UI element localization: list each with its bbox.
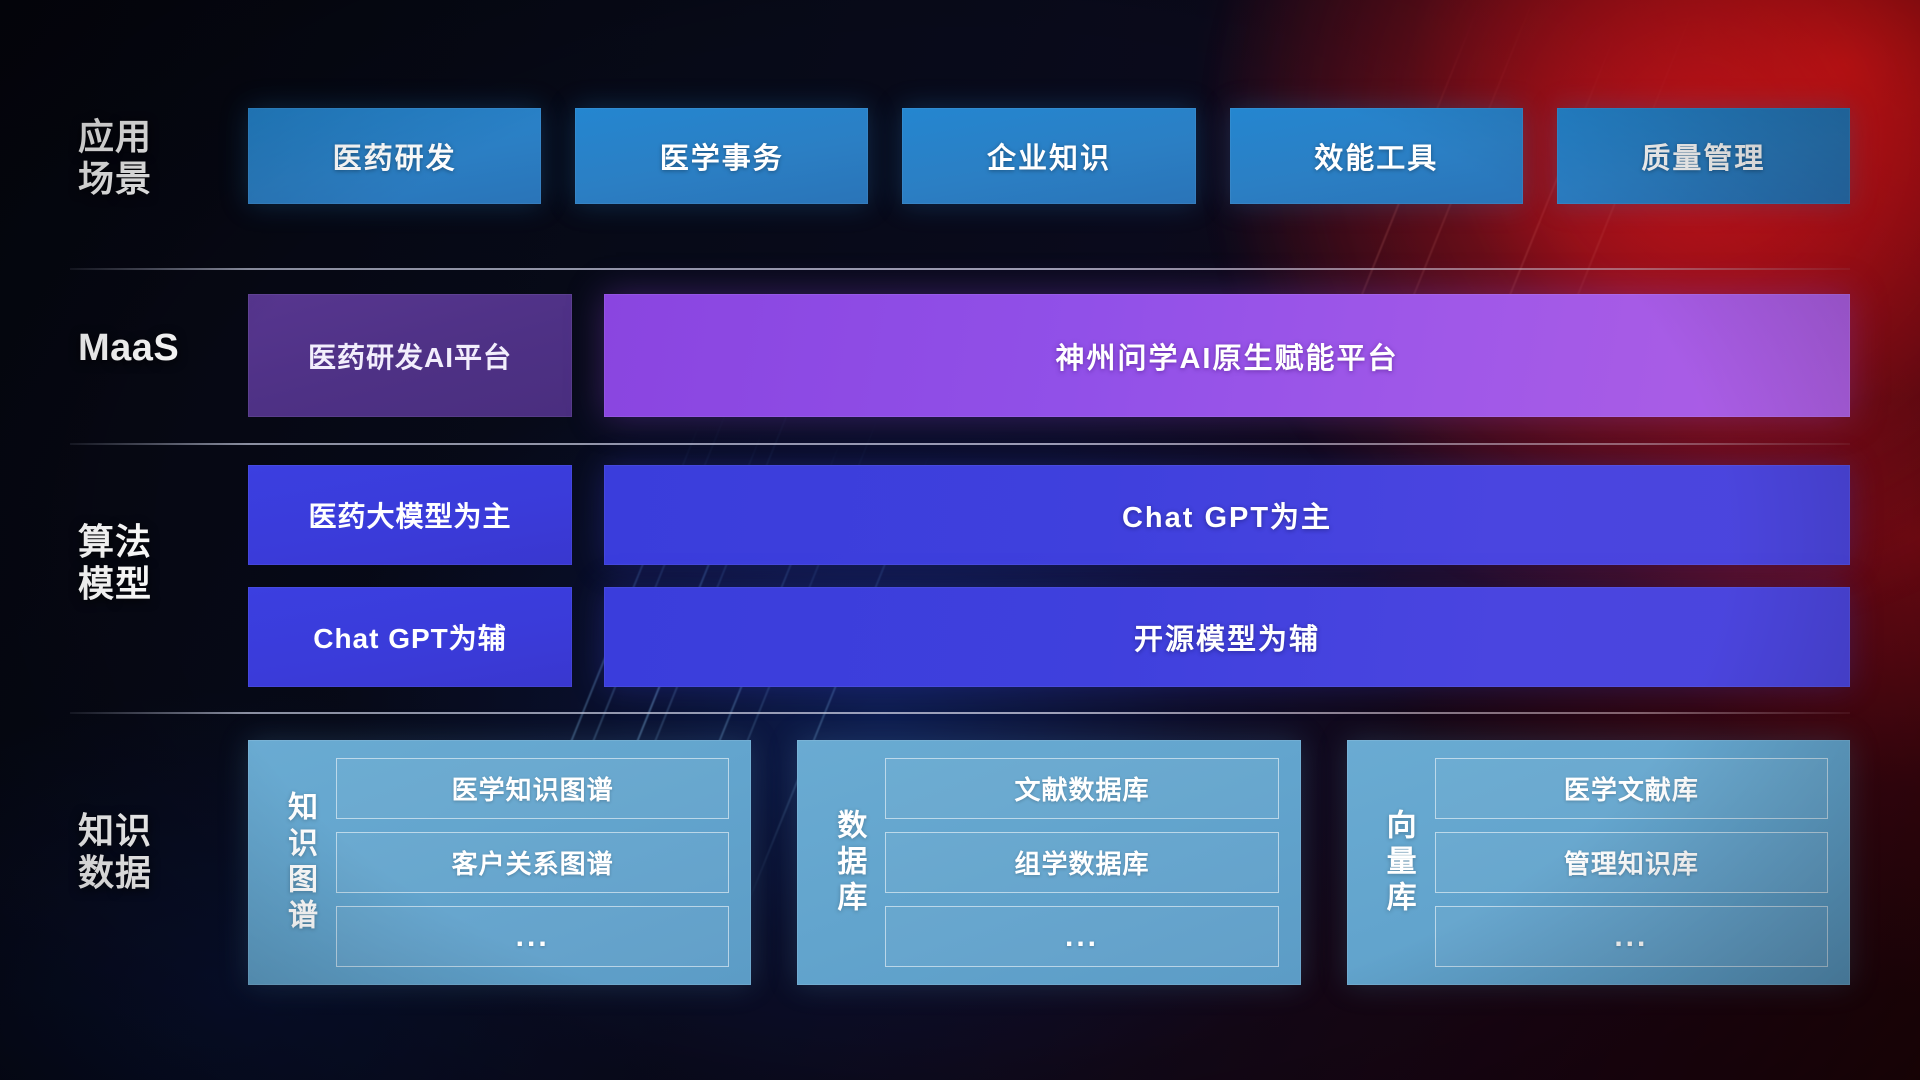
algorithm-line-primary: 医药大模型为主 Chat GPT为主 xyxy=(248,465,1850,565)
row-label-application-scenarios: 应用 场景 xyxy=(78,116,218,201)
knowledge-groups-track: 知识图谱 医学知识图谱 客户关系图谱 ... 数据库 文献数据库 组学数据库 .… xyxy=(248,740,1850,985)
row-label-line-1: 知识 xyxy=(78,810,218,852)
knowledge-item-customer-kg[interactable]: 客户关系图谱 xyxy=(336,832,729,893)
app-card-quality-management[interactable]: 质量管理 xyxy=(1557,108,1850,204)
knowledge-items-list: 医学文献库 管理知识库 ... xyxy=(1435,758,1828,967)
row-label-algorithm-models: 算法 模型 xyxy=(78,521,218,606)
knowledge-group-side-label: 数据库 xyxy=(811,758,885,967)
knowledge-item-more[interactable]: ... xyxy=(885,906,1278,967)
slide-canvas: 应用 场景 医药研发 医学事务 企业知识 效能工具 质量管理 MaaS 医药研发… xyxy=(0,0,1920,1080)
row-application-scenarios: 应用 场景 医药研发 医学事务 企业知识 效能工具 质量管理 xyxy=(0,100,1920,210)
knowledge-item-more[interactable]: ... xyxy=(1435,906,1828,967)
application-cards-track: 医药研发 医学事务 企业知识 效能工具 质量管理 xyxy=(248,108,1850,204)
divider-apps-maas xyxy=(70,268,1850,270)
knowledge-item-omics-db[interactable]: 组学数据库 xyxy=(885,832,1278,893)
row-maas: MaaS 医药研发AI平台 神州问学AI原生赋能平台 xyxy=(0,290,1920,415)
knowledge-item-medical-literature[interactable]: 医学文献库 xyxy=(1435,758,1828,819)
row-label-line-1: 应用 xyxy=(78,116,218,158)
knowledge-group-vector-store[interactable]: 向量库 医学文献库 管理知识库 ... xyxy=(1347,740,1850,985)
knowledge-item-management-kb[interactable]: 管理知识库 xyxy=(1435,832,1828,893)
knowledge-group-knowledge-graph[interactable]: 知识图谱 医学知识图谱 客户关系图谱 ... xyxy=(248,740,751,985)
algorithm-line-secondary: Chat GPT为辅 开源模型为辅 xyxy=(248,587,1850,687)
row-label-line-2: 模型 xyxy=(78,563,218,605)
knowledge-items-list: 医学知识图谱 客户关系图谱 ... xyxy=(336,758,729,967)
maas-card-shenzhou-wenxue-platform[interactable]: 神州问学AI原生赋能平台 xyxy=(604,294,1850,417)
algo-card-opensource-secondary[interactable]: 开源模型为辅 xyxy=(604,587,1850,687)
row-label-line-2: 场景 xyxy=(78,158,218,200)
app-card-medicine-rd[interactable]: 医药研发 xyxy=(248,108,541,204)
row-label-line-2: 数据 xyxy=(78,852,218,894)
row-algorithm-models: 算法 模型 医药大模型为主 Chat GPT为主 Chat GPT为辅 开源模型… xyxy=(0,465,1920,695)
algo-card-pharma-llm-primary[interactable]: 医药大模型为主 xyxy=(248,465,572,565)
maas-track: 医药研发AI平台 神州问学AI原生赋能平台 xyxy=(248,294,1850,417)
knowledge-group-database[interactable]: 数据库 文献数据库 组学数据库 ... xyxy=(797,740,1300,985)
algo-card-chatgpt-secondary[interactable]: Chat GPT为辅 xyxy=(248,587,572,687)
app-card-efficiency-tools[interactable]: 效能工具 xyxy=(1230,108,1523,204)
knowledge-item-medical-kg[interactable]: 医学知识图谱 xyxy=(336,758,729,819)
algo-card-chatgpt-primary[interactable]: Chat GPT为主 xyxy=(604,465,1850,565)
architecture-rows: 应用 场景 医药研发 医学事务 企业知识 效能工具 质量管理 MaaS 医药研发… xyxy=(0,0,1920,1080)
knowledge-item-more[interactable]: ... xyxy=(336,906,729,967)
knowledge-items-list: 文献数据库 组学数据库 ... xyxy=(885,758,1278,967)
divider-maas-algo xyxy=(70,443,1850,445)
knowledge-group-side-label: 知识图谱 xyxy=(262,758,336,967)
maas-card-pharma-ai-platform[interactable]: 医药研发AI平台 xyxy=(248,294,572,417)
divider-algo-knowledge xyxy=(70,712,1850,714)
app-card-medical-affairs[interactable]: 医学事务 xyxy=(575,108,868,204)
algorithm-track: 医药大模型为主 Chat GPT为主 Chat GPT为辅 开源模型为辅 xyxy=(248,465,1850,687)
app-card-enterprise-knowledge[interactable]: 企业知识 xyxy=(902,108,1195,204)
knowledge-item-literature-db[interactable]: 文献数据库 xyxy=(885,758,1278,819)
knowledge-group-side-label: 向量库 xyxy=(1361,758,1435,967)
row-knowledge-data: 知识 数据 知识图谱 医学知识图谱 客户关系图谱 ... 数据库 文献数据库 xyxy=(0,740,1920,990)
row-label-line-1: 算法 xyxy=(78,521,218,563)
row-label-knowledge-data: 知识 数据 xyxy=(78,810,218,895)
row-label-maas: MaaS xyxy=(78,326,218,371)
